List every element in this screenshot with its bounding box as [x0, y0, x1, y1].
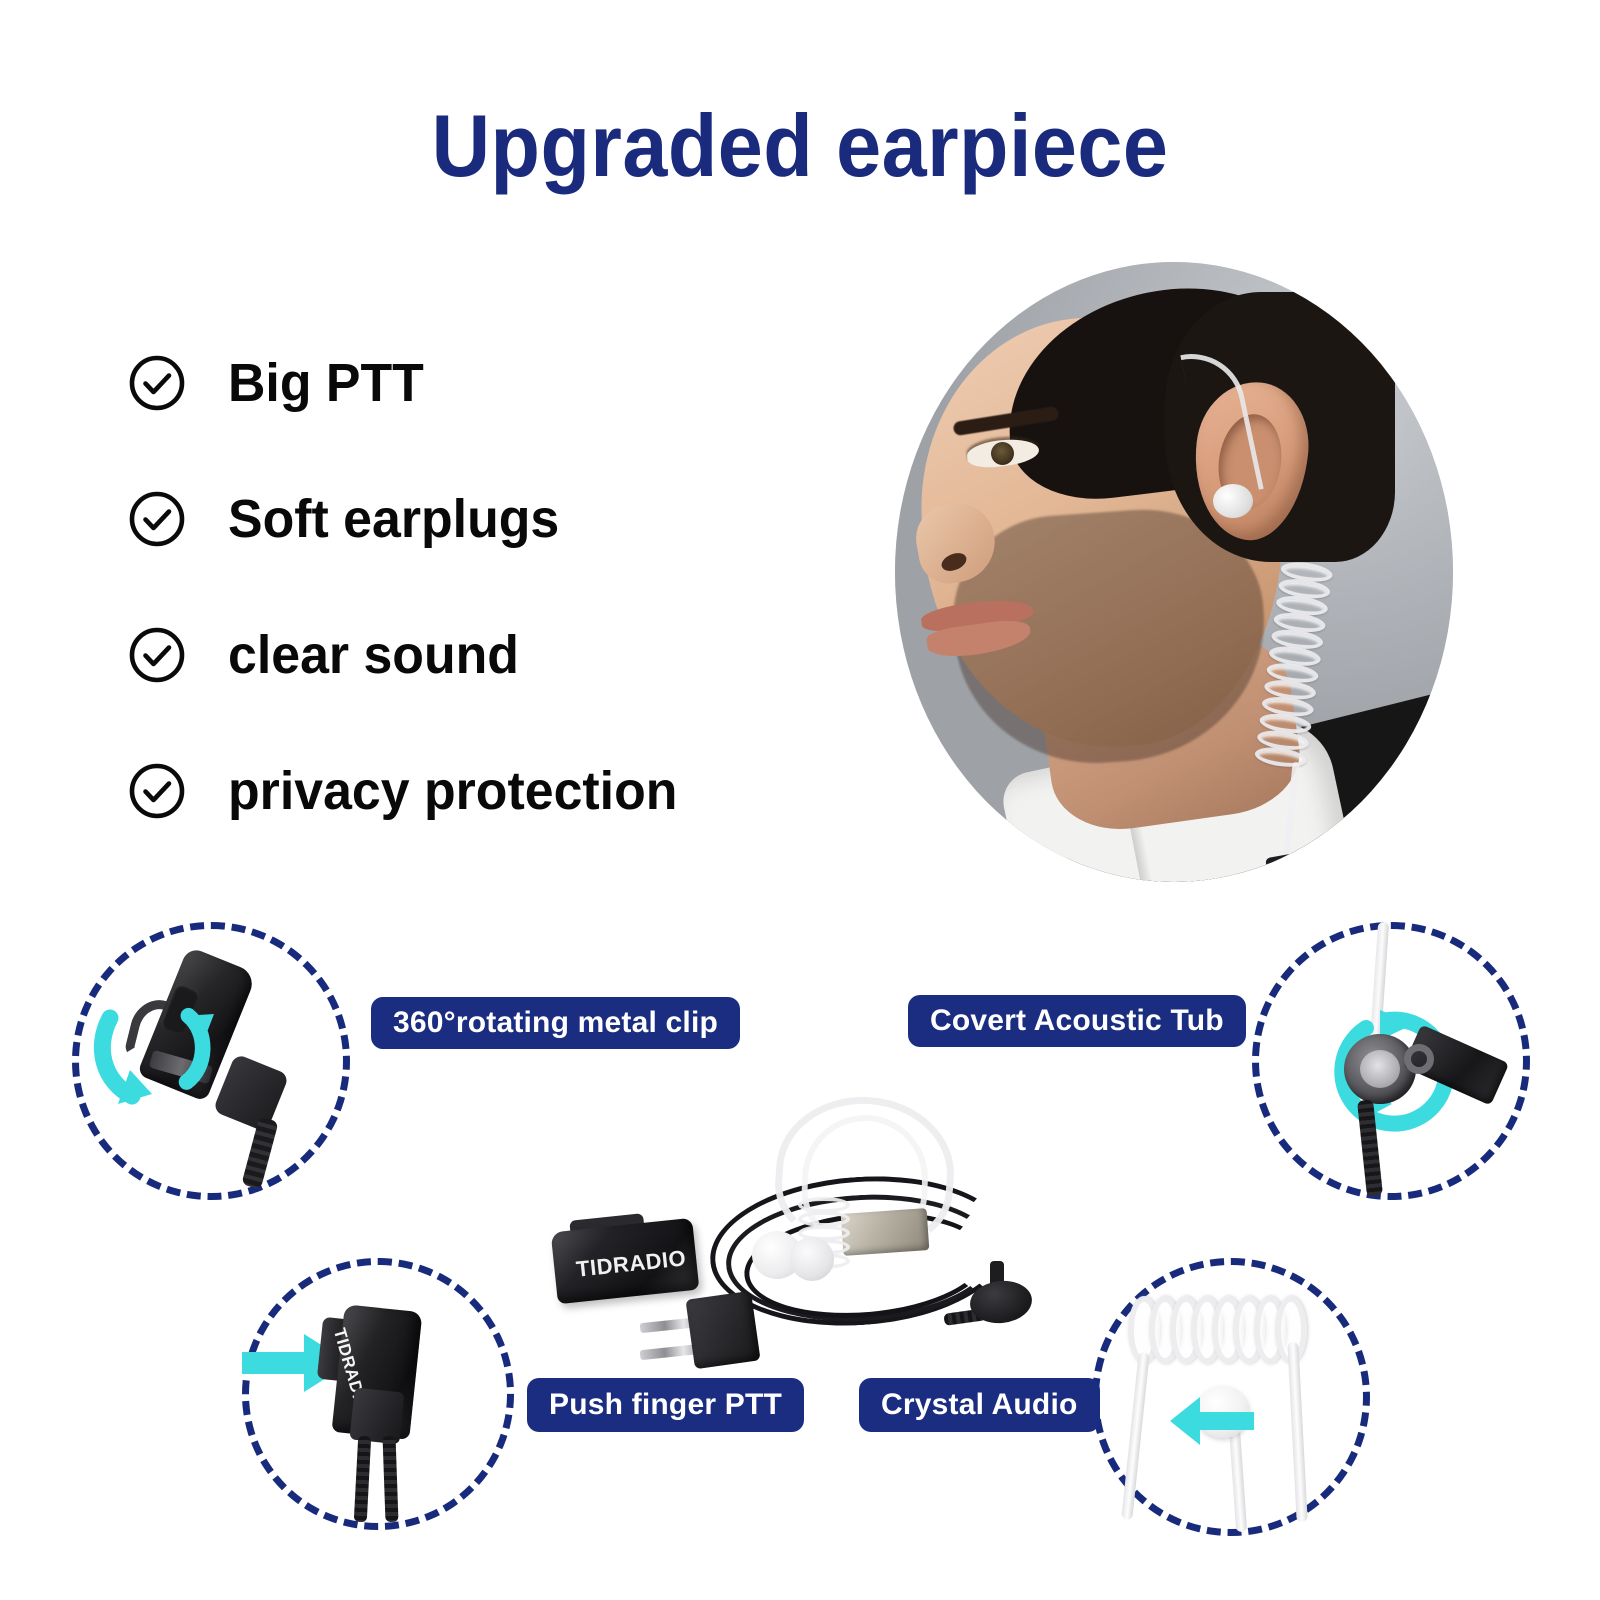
feature-label: privacy protection	[228, 760, 677, 822]
callout-label-rotating-metal-clip: 360°rotating metal clip	[371, 997, 740, 1049]
product-k-connector	[685, 1291, 760, 1370]
arrow-left-icon	[1168, 1394, 1254, 1448]
acoustic-tube-hub-inner	[1360, 1050, 1400, 1088]
feature-item: clear sound	[128, 587, 888, 723]
feature-label: clear sound	[228, 624, 519, 686]
feature-list: Big PTT Soft earplugs clear sound	[128, 315, 888, 859]
product-earbud	[790, 1237, 834, 1281]
callout-label-covert-acoustic-tube: Covert Acoustic Tub	[908, 995, 1246, 1047]
hero-iris	[991, 442, 1014, 465]
check-circle-icon	[128, 354, 186, 412]
check-circle-icon	[128, 490, 186, 548]
feature-item: Soft earplugs	[128, 451, 888, 587]
crystal-coiled-tube	[1128, 1296, 1308, 1366]
feature-label: Soft earplugs	[228, 488, 559, 550]
hero-photo	[895, 262, 1453, 882]
check-circle-icon	[128, 762, 186, 820]
infographic-page: Upgraded earpiece Big PTT Soft earplugs	[0, 0, 1600, 1600]
curved-rotation-arrows-icon	[88, 1000, 238, 1130]
feature-item: Big PTT	[128, 315, 888, 451]
feature-label: Big PTT	[228, 352, 424, 414]
product-photo: TIDRADIO	[540, 1085, 1060, 1395]
hero-earbud	[1213, 484, 1253, 518]
page-title: Upgraded earpiece	[64, 95, 1536, 197]
product-metal-clip	[841, 1208, 930, 1256]
acoustic-tube-clip-ring	[1404, 1044, 1434, 1074]
check-circle-icon	[128, 626, 186, 684]
feature-item: privacy protection	[128, 723, 888, 859]
ptt-lower-panel	[349, 1388, 404, 1445]
